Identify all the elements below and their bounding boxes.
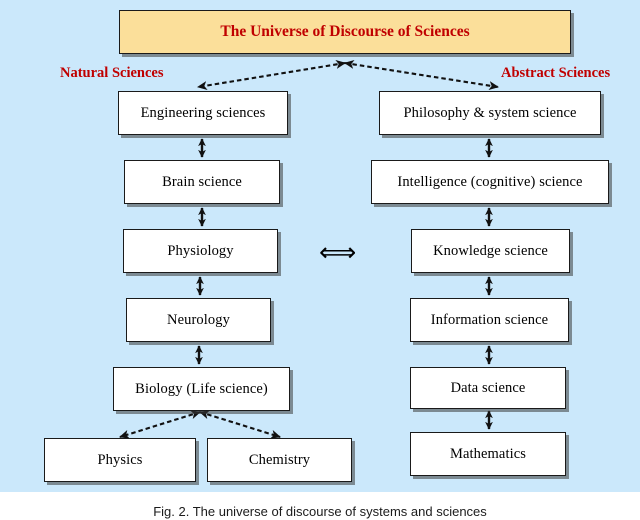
node-label: Mathematics bbox=[450, 446, 526, 463]
node-engineering-sciences[interactable]: Engineering sciences bbox=[118, 91, 288, 135]
node-label: Philosophy & system science bbox=[403, 105, 576, 122]
node-philosophy-system-science[interactable]: Philosophy & system science bbox=[379, 91, 601, 135]
node-label: Knowledge science bbox=[433, 243, 548, 260]
node-knowledge-science[interactable]: Knowledge science bbox=[411, 229, 570, 273]
node-physics[interactable]: Physics bbox=[44, 438, 196, 482]
node-physiology[interactable]: Physiology bbox=[123, 229, 278, 273]
node-label: Engineering sciences bbox=[141, 105, 266, 122]
node-mathematics[interactable]: Mathematics bbox=[410, 432, 566, 476]
node-label: Chemistry bbox=[249, 452, 310, 469]
title-box-label: The Universe of Discourse of Sciences bbox=[220, 23, 469, 41]
title-box[interactable]: The Universe of Discourse of Sciences bbox=[119, 10, 571, 54]
label-abstract-sciences: Abstract Sciences bbox=[501, 65, 610, 82]
node-label: Physiology bbox=[167, 243, 233, 260]
node-label: Brain science bbox=[162, 174, 242, 191]
node-label: Physics bbox=[97, 452, 142, 469]
figure-canvas: The Universe of Discourse of Sciences Na… bbox=[0, 0, 640, 492]
arrow-title-to-natural bbox=[198, 63, 345, 87]
node-biology-life-science[interactable]: Biology (Life science) bbox=[113, 367, 290, 411]
figure-caption-text: Fig. 2. The universe of discourse of sys… bbox=[153, 504, 487, 519]
node-intelligence-cognitive-science[interactable]: Intelligence (cognitive) science bbox=[371, 160, 609, 204]
arrow-biology-physics bbox=[120, 412, 200, 437]
node-label: Intelligence (cognitive) science bbox=[397, 174, 582, 191]
node-neurology[interactable]: Neurology bbox=[126, 298, 271, 342]
figure-caption: Fig. 2. The universe of discourse of sys… bbox=[0, 492, 640, 520]
node-label: Biology (Life science) bbox=[135, 381, 268, 398]
equivalence-arrow-icon: ⟺ bbox=[319, 240, 356, 266]
node-label: Information science bbox=[431, 312, 548, 329]
node-data-science[interactable]: Data science bbox=[410, 367, 566, 409]
node-brain-science[interactable]: Brain science bbox=[124, 160, 280, 204]
node-label: Neurology bbox=[167, 312, 230, 329]
node-chemistry[interactable]: Chemistry bbox=[207, 438, 352, 482]
node-information-science[interactable]: Information science bbox=[410, 298, 569, 342]
arrow-biology-chemistry bbox=[200, 412, 280, 437]
label-natural-sciences: Natural Sciences bbox=[60, 65, 164, 82]
node-label: Data science bbox=[451, 380, 526, 397]
arrow-title-to-abstract bbox=[345, 63, 498, 87]
dashed-branch-arrows bbox=[198, 63, 498, 87]
